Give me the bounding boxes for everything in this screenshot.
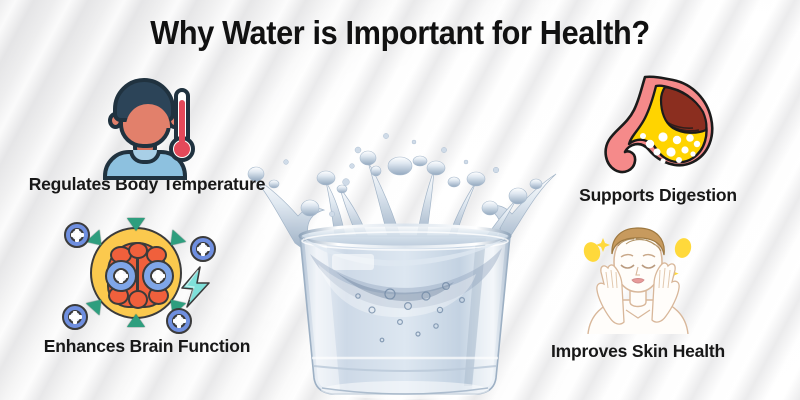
face-skincare-svg xyxy=(578,222,698,334)
water-glass-splash-image xyxy=(240,58,570,400)
feature-label-supports-digestion: Supports Digestion xyxy=(579,185,737,206)
thermometer-icon xyxy=(169,88,195,166)
stomach-svg xyxy=(593,74,723,178)
person-hair-icon xyxy=(113,78,175,122)
plus-glyph-br xyxy=(173,315,186,328)
lightning-bolt-icon xyxy=(178,266,212,308)
person-thermometer-icon xyxy=(97,72,197,172)
page-title: Why Water is Important for Health? xyxy=(28,14,772,52)
feature-enhances-brain-function[interactable]: Enhances Brain Function xyxy=(8,222,286,357)
infographic-canvas: Why Water is Important for Health? xyxy=(0,0,800,400)
brain-lobe xyxy=(128,290,148,309)
feature-label-improves-skin-health: Improves Skin Health xyxy=(551,341,725,362)
feature-regulates-body-temperature[interactable]: Regulates Body Temperature xyxy=(12,72,282,195)
plus-glyph-brain-right xyxy=(152,270,165,283)
water-glass-svg xyxy=(240,58,570,400)
plus-glyph-tl xyxy=(71,229,84,242)
plus-glyph-bl xyxy=(69,311,82,324)
stomach-icon xyxy=(593,74,723,183)
face-skincare-icon xyxy=(578,222,698,339)
energy-arrow-top-icon xyxy=(127,218,145,231)
plus-glyph-tr xyxy=(197,243,210,256)
energy-arrow-bottom-icon xyxy=(127,314,145,327)
feature-supports-digestion[interactable]: Supports Digestion xyxy=(552,74,764,206)
sparkle-right-icon xyxy=(673,236,694,260)
feature-label-enhances-brain-function: Enhances Brain Function xyxy=(44,336,250,357)
brain-lobe xyxy=(128,242,148,259)
feature-improves-skin-health[interactable]: Improves Skin Health xyxy=(532,222,744,362)
brain-energy-icon xyxy=(62,222,232,334)
plus-glyph-brain-left xyxy=(115,270,128,283)
